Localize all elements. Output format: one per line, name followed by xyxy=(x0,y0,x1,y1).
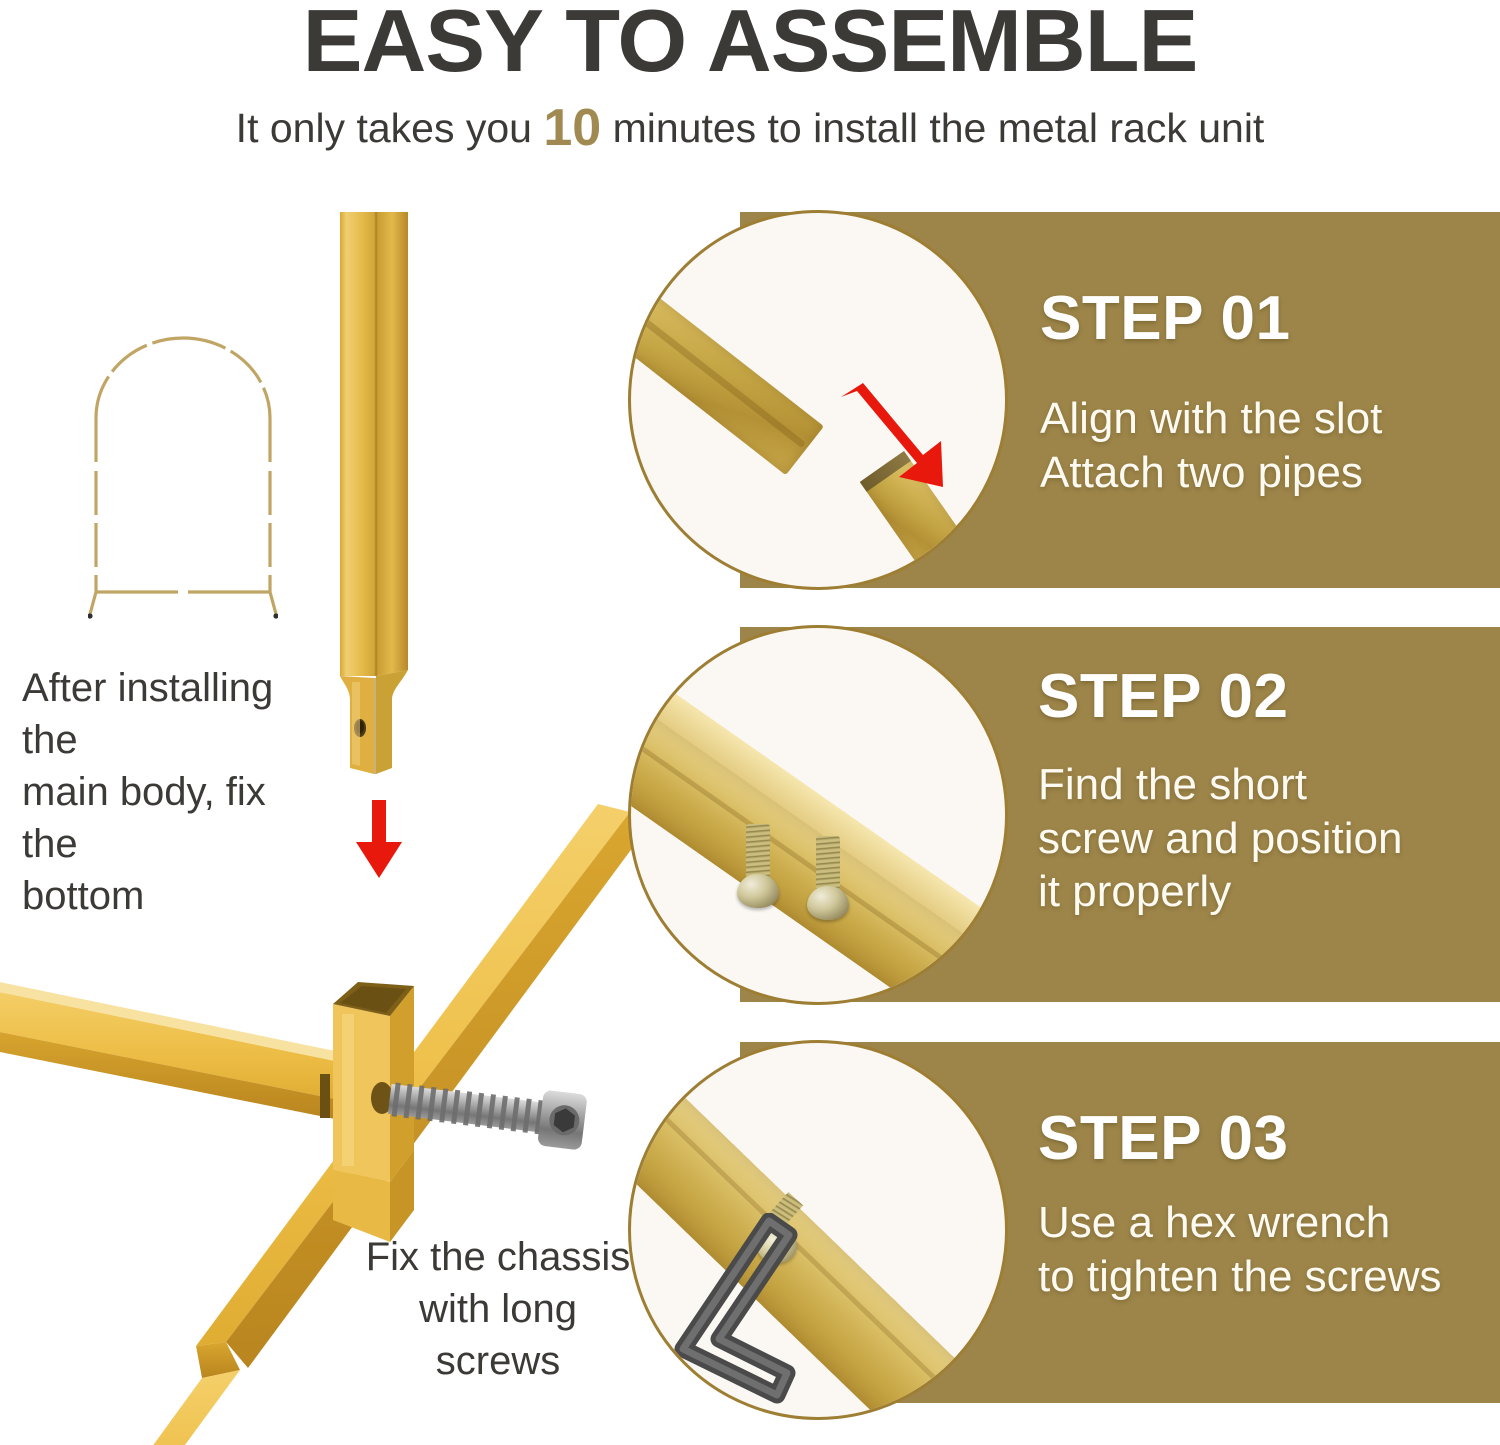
subtitle-after: minutes to install the metal rack unit xyxy=(601,105,1264,151)
red-diagonal-arrow-icon xyxy=(837,381,955,491)
screw-head xyxy=(807,886,849,920)
step-2-desc-line-2: screw and position xyxy=(1038,814,1402,863)
screw-head xyxy=(737,874,779,908)
step-2-photo xyxy=(628,625,1008,1005)
step-2-description: Find the short screw and position it pro… xyxy=(1038,758,1402,919)
subtitle: It only takes you 10 minutes to install … xyxy=(0,100,1500,157)
step-1-photo-inner xyxy=(631,213,1005,587)
pipe-end-upper xyxy=(628,249,824,475)
step-1-desc-line-1: Align with the slot xyxy=(1040,394,1382,443)
step-3-photo-inner xyxy=(631,1043,1005,1417)
step-2-desc-line-3: it properly xyxy=(1038,867,1231,916)
step-3-description: Use a hex wrench to tighten the screws xyxy=(1038,1196,1442,1303)
infographic-root: EASY TO ASSEMBLE It only takes you 10 mi… xyxy=(0,0,1500,1445)
step-2-desc-line-1: Find the short xyxy=(1038,760,1307,809)
step-3-desc-line-2: to tighten the screws xyxy=(1038,1252,1442,1301)
step-2-photo-inner xyxy=(631,628,1005,1002)
step-3-title: STEP 03 xyxy=(1038,1108,1289,1170)
subtitle-minutes-number: 10 xyxy=(543,99,601,157)
screw-shaft xyxy=(746,824,770,880)
step-1-photo xyxy=(628,210,1008,590)
step-1-title: STEP 01 xyxy=(1040,288,1291,350)
page-title: EASY TO ASSEMBLE xyxy=(0,0,1500,86)
step-1-desc-line-2: Attach two pipes xyxy=(1040,448,1363,497)
caption-bottom-line-2: with long screws xyxy=(419,1287,577,1383)
caption-bottom-line-1: Fix the chassis xyxy=(366,1235,631,1279)
step-3-photo xyxy=(628,1040,1008,1420)
step-3-desc-line-1: Use a hex wrench xyxy=(1038,1198,1390,1247)
vertical-gold-pipe xyxy=(330,208,420,808)
caption-fix-chassis: Fix the chassis with long screws xyxy=(358,1231,638,1387)
subtitle-before: It only takes you xyxy=(236,105,544,151)
caption-top-line-1: After installing the xyxy=(22,666,273,762)
screw-shaft xyxy=(816,836,840,892)
header: EASY TO ASSEMBLE It only takes you 10 mi… xyxy=(0,0,1500,178)
step-2-title: STEP 02 xyxy=(1038,666,1289,728)
hex-wrench-icon xyxy=(649,1213,879,1413)
step-1-description: Align with the slot Attach two pipes xyxy=(1040,392,1382,499)
arch-backdrop-outline-icon xyxy=(88,326,278,626)
